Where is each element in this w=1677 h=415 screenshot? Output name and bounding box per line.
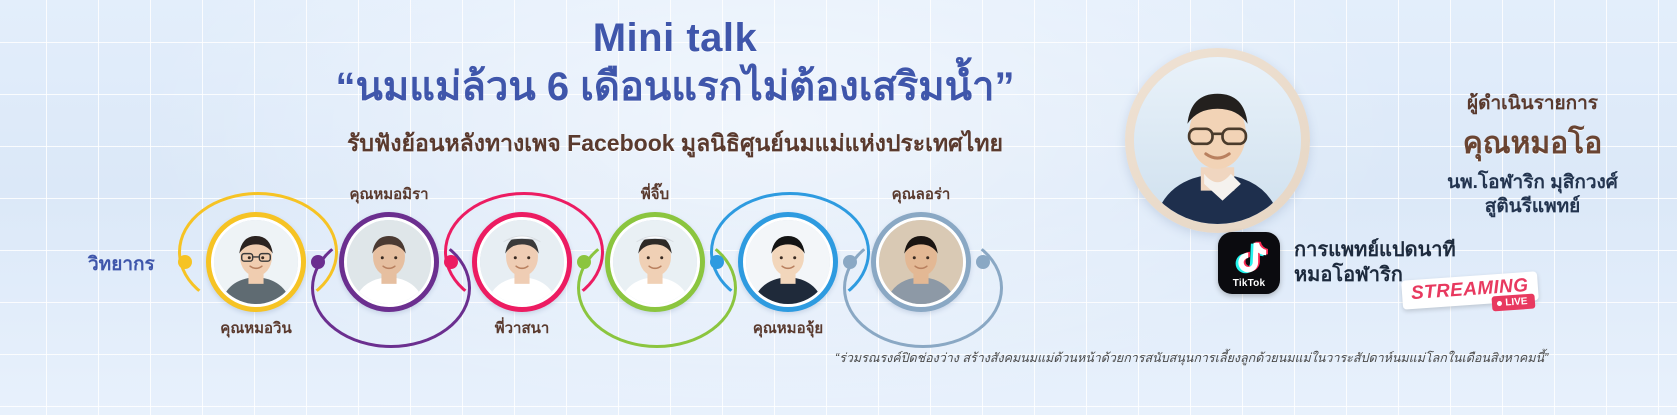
headline-block: Mini talk “นมแม่ล้วน 6 เดือนแรกไม่ต้องเส… [170, 16, 1180, 162]
host-specialty: สูตินรีแพทย์ [1390, 195, 1675, 219]
tiktok-channel-line1: การแพทย์แปดนาที [1294, 238, 1456, 263]
host-portrait [1125, 48, 1375, 238]
live-label: LIVE [1505, 296, 1528, 309]
host-info: ผู้ดำเนินรายการ คุณหมอโอ นพ.โอฬาริก มุสิ… [1390, 88, 1675, 219]
speaker-name: คุณลอร่า [892, 182, 951, 206]
page-title: Mini talk [170, 16, 1180, 60]
connector-arc [843, 228, 1003, 348]
tiktok-note-icon [1232, 240, 1268, 276]
live-dot-icon [1497, 301, 1502, 306]
speaker-name: พี่จิ๊บ [641, 182, 669, 206]
host-fullname: นพ.โอฬาริก มุสิกวงศ์ [1390, 171, 1675, 195]
speaker-name: คุณหมอจุ้ย [753, 316, 823, 340]
speakers-row: วิทยากร คุณหมอวินคุณหมอมิราพี่วาสนาพี่จิ… [0, 182, 1030, 342]
live-badge: LIVE [1492, 294, 1535, 312]
speakers-label: วิทยากร [88, 249, 155, 279]
tiktok-wordmark: TikTok [1218, 278, 1280, 289]
headline-quote: “นมแม่ล้วน 6 เดือนแรกไม่ต้องเสริมน้ำ” [170, 62, 1180, 112]
host-role: ผู้ดำเนินรายการ [1390, 88, 1675, 118]
headline-subtitle: รับฟังย้อนหลังทางเพจ Facebook มูลนิธิศูน… [170, 126, 1180, 162]
promo-banner: Mini talk “นมแม่ล้วน 6 เดือนแรกไม่ต้องเส… [0, 0, 1677, 415]
footer-note: “ร่วมรณรงค์ปิดช่องว่าง สร้างสังคมนมแม่ด้… [835, 348, 1665, 368]
speaker-name: คุณหมอมิรา [349, 182, 428, 206]
connector-dot [976, 255, 990, 269]
host-photo [1134, 57, 1301, 224]
host-avatar-icon [1134, 57, 1301, 224]
tiktok-icon[interactable]: TikTok [1218, 232, 1280, 294]
speaker-name: พี่วาสนา [495, 316, 550, 340]
speaker-name: คุณหมอวิน [220, 316, 291, 340]
host-nickname: คุณหมอโอ [1390, 120, 1675, 167]
